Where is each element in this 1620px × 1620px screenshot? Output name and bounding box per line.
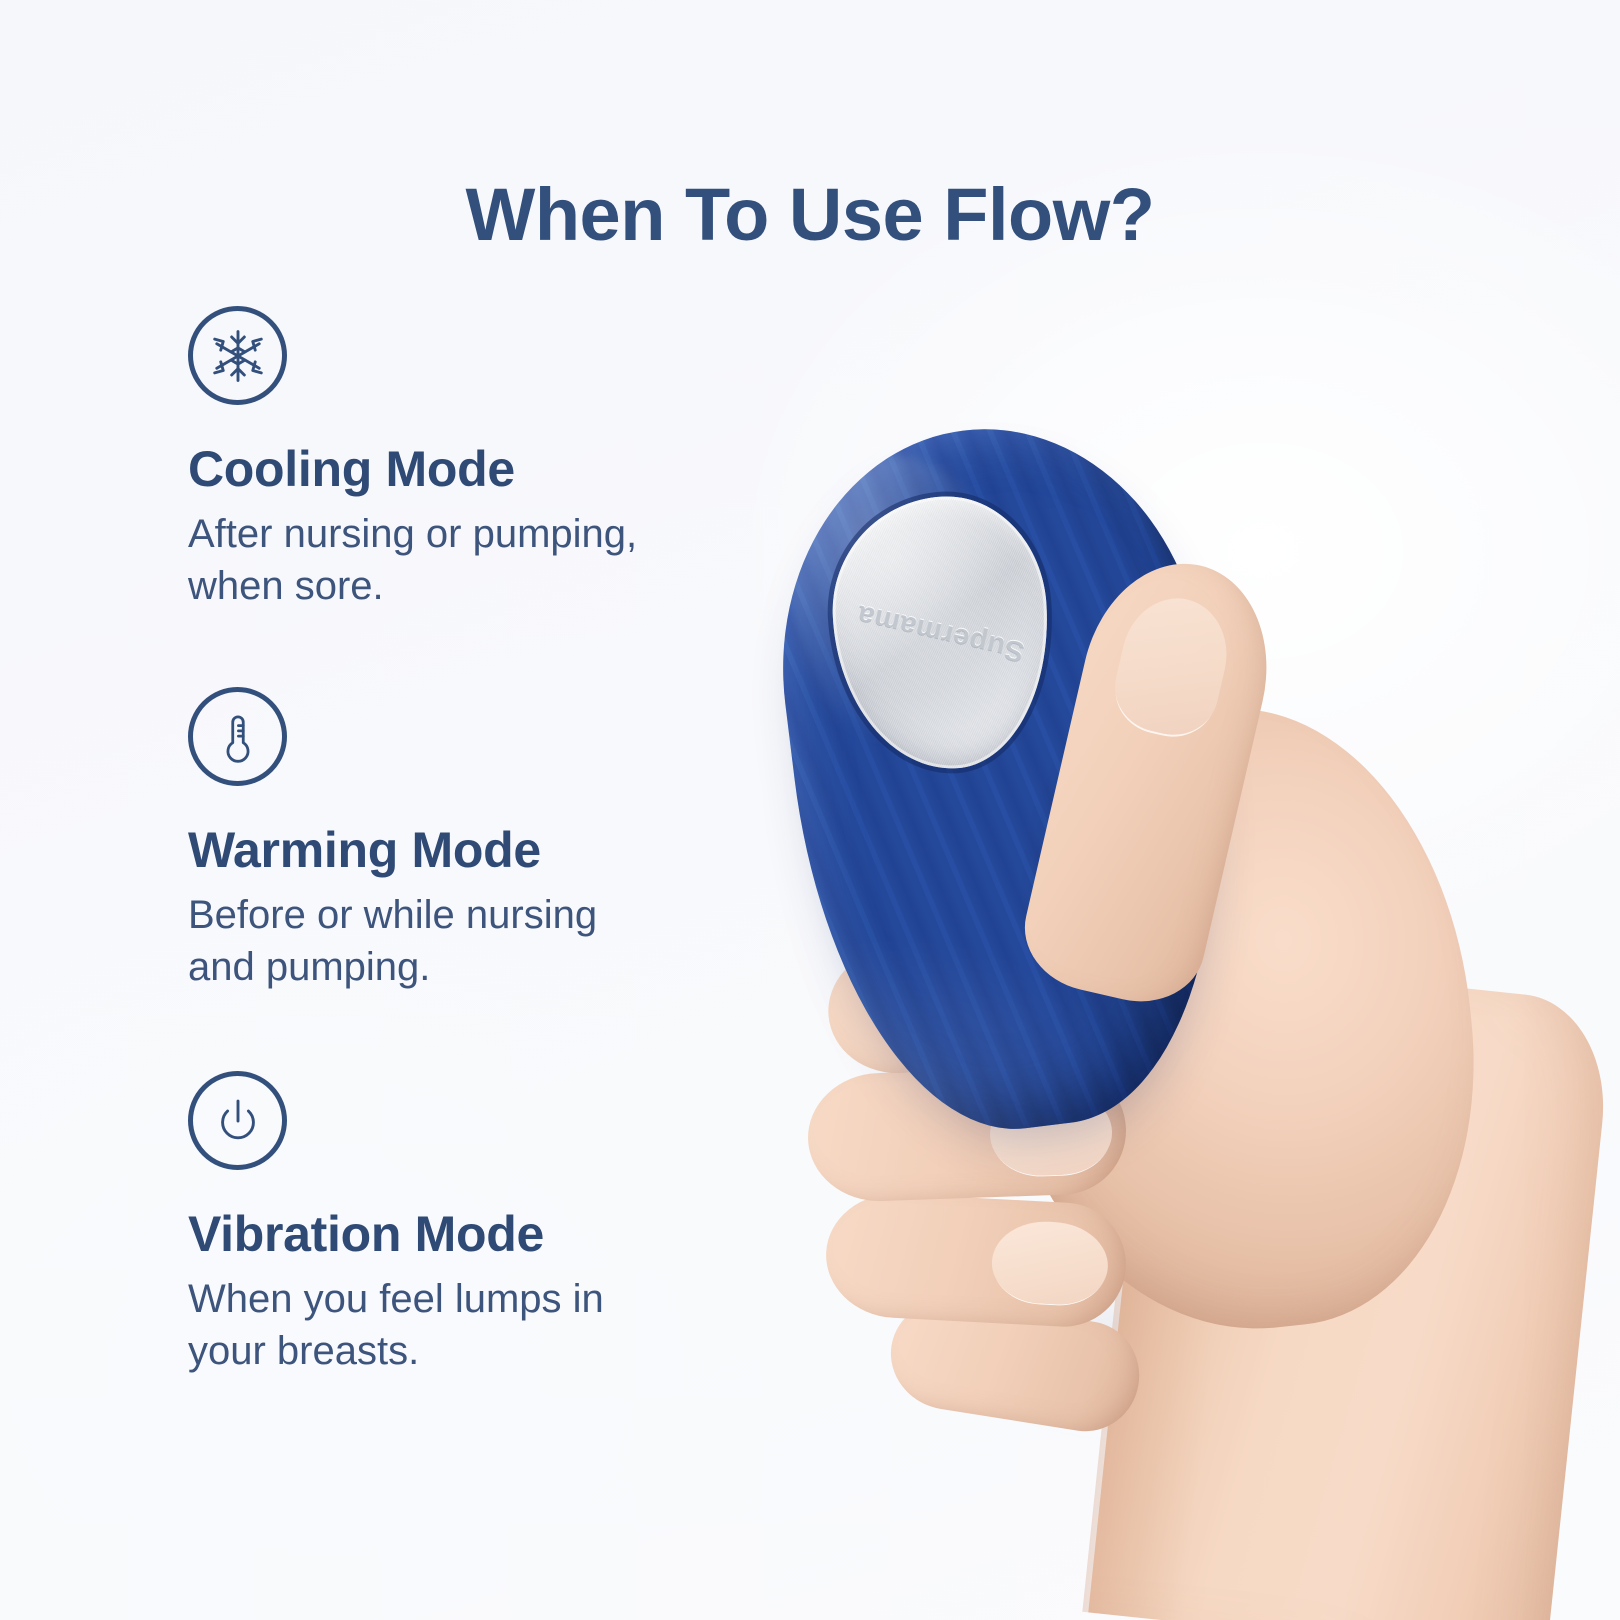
feature-body: When you feel lumps in your breasts.: [188, 1273, 708, 1377]
feature-heading: Vibration Mode: [188, 1207, 748, 1261]
thumbnail: [1106, 588, 1238, 744]
snowflake-icon: [188, 306, 287, 405]
finger-ring: [823, 1190, 1129, 1330]
feature-body: After nursing or pumping, when sore.: [188, 508, 708, 612]
page-root: When To Use Flow?: [0, 0, 1620, 1620]
power-icon: [188, 1071, 287, 1170]
feature-body-line: and pumping.: [188, 941, 708, 993]
feature-body-line: After nursing or pumping,: [188, 508, 708, 560]
page-title: When To Use Flow?: [0, 176, 1620, 254]
device-metal-panel: Supermama: [827, 491, 1055, 774]
product-photo: Supermama: [700, 380, 1620, 1620]
feature-item-cooling: Cooling Mode After nursing or pumping, w…: [188, 306, 748, 612]
feature-body: Before or while nursing and pumping.: [188, 889, 708, 993]
feature-item-vibration: Vibration Mode When you feel lumps in yo…: [188, 1071, 748, 1377]
fingernail: [990, 1219, 1110, 1307]
feature-body-line: when sore.: [188, 560, 708, 612]
feature-body-line: your breasts.: [188, 1325, 708, 1377]
thermometer-icon: [188, 687, 287, 786]
feature-body-line: When you feel lumps in: [188, 1273, 708, 1325]
feature-body-line: Before or while nursing: [188, 889, 708, 941]
feature-heading: Cooling Mode: [188, 442, 748, 496]
feature-list: Cooling Mode After nursing or pumping, w…: [188, 306, 748, 1377]
feature-heading: Warming Mode: [188, 823, 748, 877]
feature-item-warming: Warming Mode Before or while nursing and…: [188, 687, 748, 993]
